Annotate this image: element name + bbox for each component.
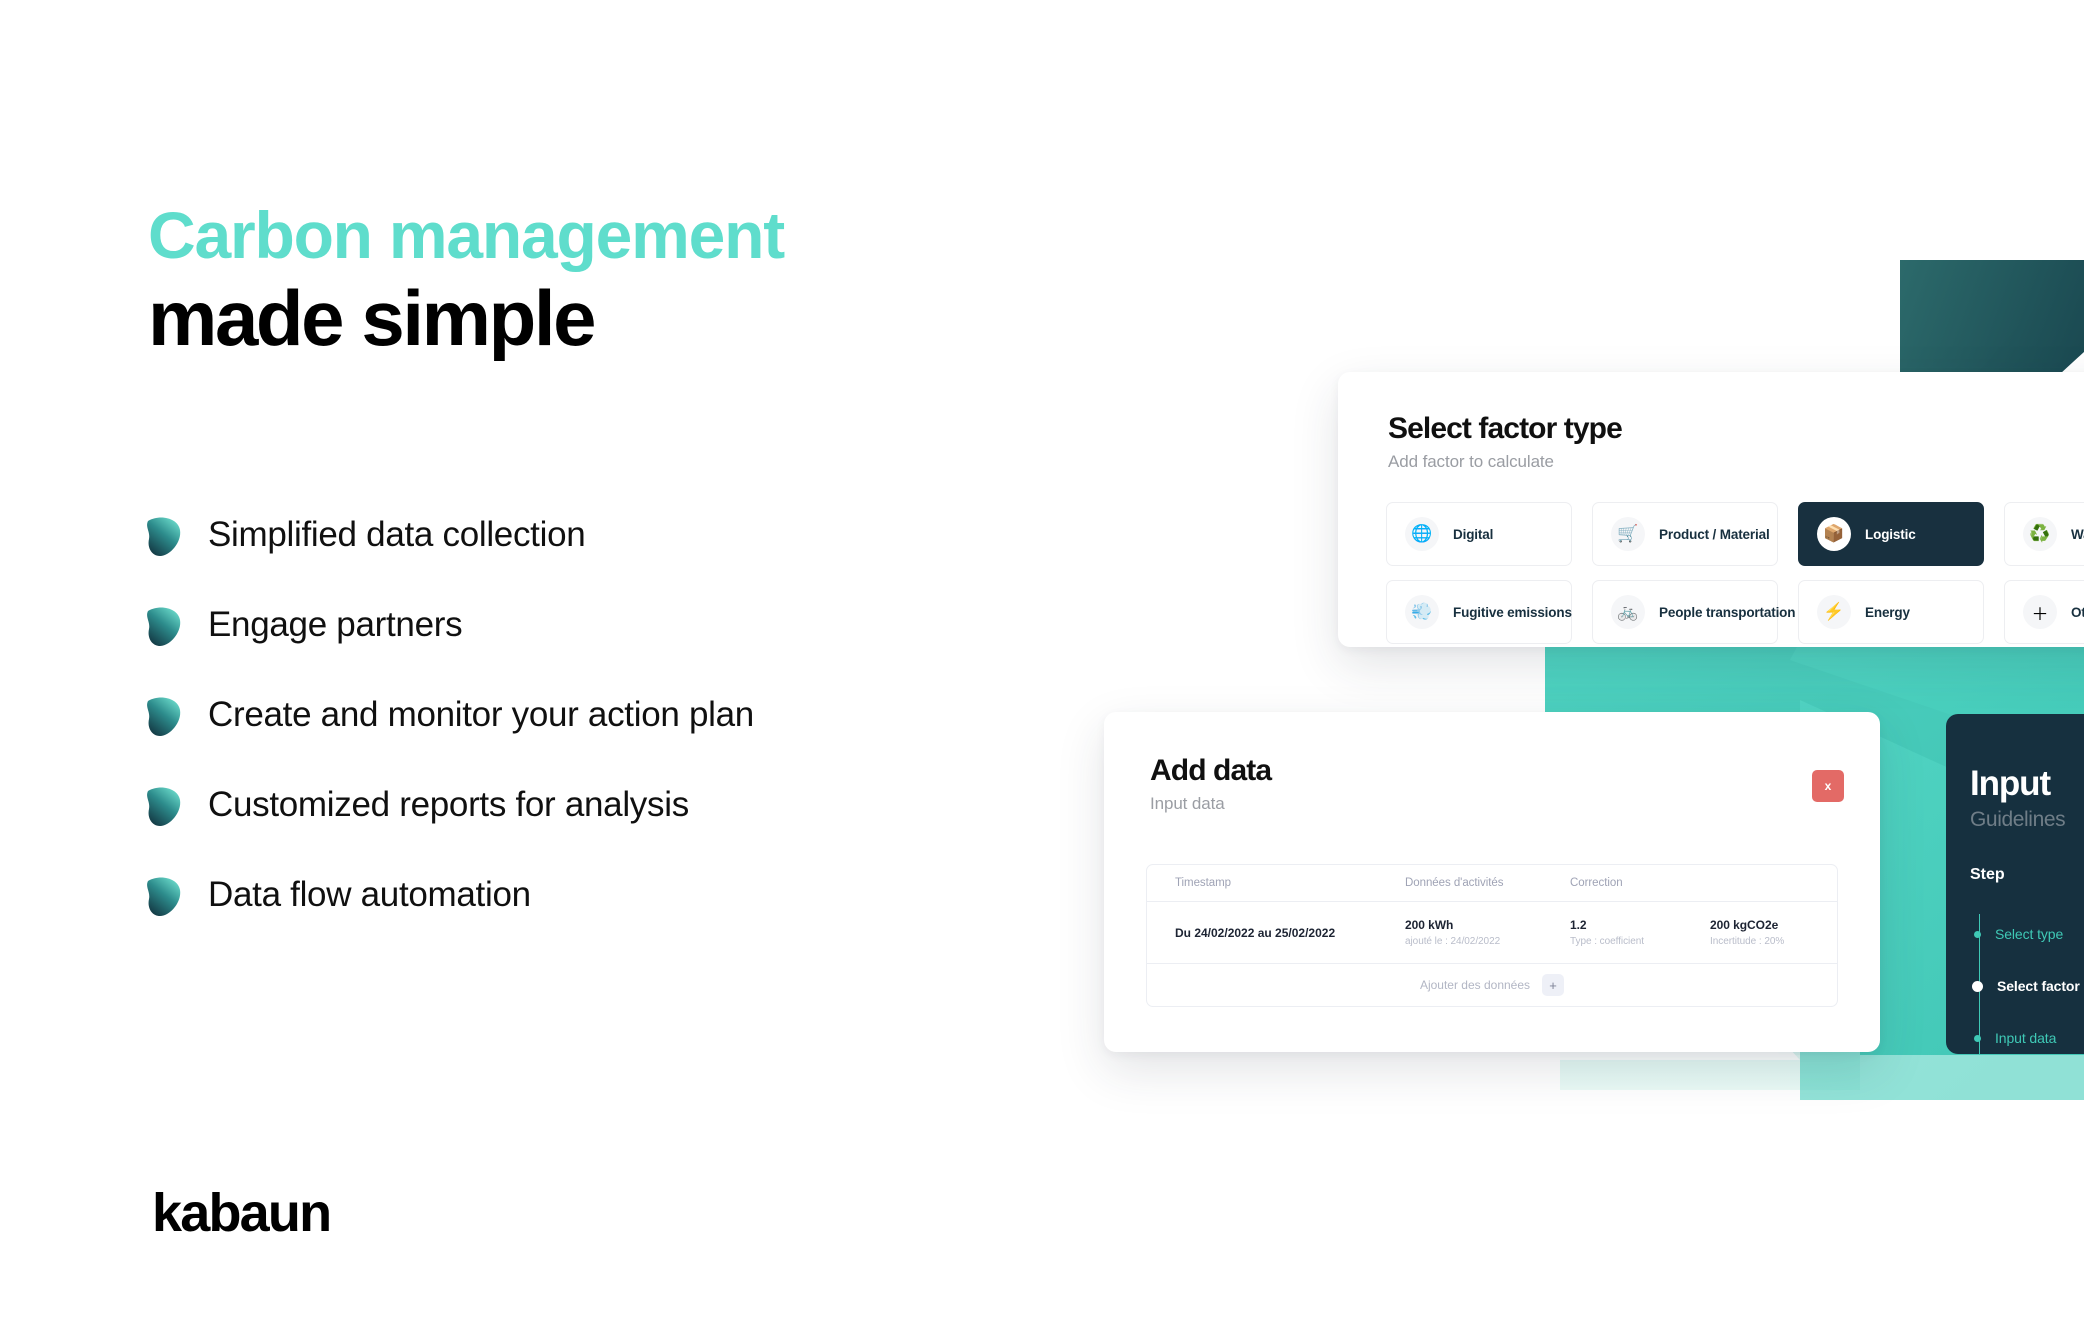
- column-header-timestamp: Timestamp: [1175, 877, 1405, 889]
- card-header: Add data Input data: [1104, 712, 1880, 814]
- feature-label: Customized reports for analysis: [208, 786, 689, 825]
- panel-subtitle: Guidelines: [1970, 808, 2065, 832]
- add-data-row[interactable]: Ajouter des données +: [1147, 964, 1837, 1006]
- kabaun-logo: kabaun: [152, 1182, 330, 1244]
- cell-correction-sub: Type : coefficient: [1570, 936, 1710, 947]
- step-dot-icon: [1972, 981, 1983, 992]
- factor-chip-waste[interactable]: ♻️ Waste: [2004, 502, 2084, 566]
- shopping-cart-icon: 🛒: [1611, 517, 1645, 551]
- factor-chip-label: Digital: [1453, 527, 1493, 542]
- factor-chip-logistic[interactable]: 📦 Logistic: [1798, 502, 1984, 566]
- step-item-select-type[interactable]: Select type: [1974, 908, 2084, 960]
- factor-chip-label: Waste: [2071, 527, 2084, 542]
- cell-activity-data: 200 kWh ajouté le : 24/02/2022: [1405, 918, 1570, 947]
- page-title: Carbon management made simple: [148, 202, 784, 360]
- card-header: Select factor type Add factor to calcula…: [1338, 372, 2084, 472]
- cell-result-value: 200 kgCO2e: [1710, 918, 1838, 932]
- factor-chip-energy[interactable]: ⚡ Energy: [1798, 580, 1984, 644]
- cell-activity-value: 200 kWh: [1405, 918, 1570, 932]
- activity-data-table: Timestamp Données d'activités Correction…: [1146, 864, 1838, 1007]
- feature-list: Simplified data collection Engage partne…: [140, 490, 1000, 940]
- feature-label: Engage partners: [208, 606, 462, 645]
- feature-label: Create and monitor your action plan: [208, 696, 754, 735]
- step-dot-icon: [1974, 931, 1981, 938]
- leaf-bullet-icon: [140, 872, 186, 918]
- step-label: Input data: [1995, 1030, 2056, 1046]
- cell-timestamp-value: Du 24/02/2022 au 25/02/2022: [1175, 926, 1405, 940]
- globe-icon: 🌐: [1405, 517, 1439, 551]
- factor-chip-other[interactable]: ＋ Other: [2004, 580, 2084, 644]
- select-factor-type-card: Select factor type Add factor to calcula…: [1338, 372, 2084, 647]
- list-item: Customized reports for analysis: [140, 760, 1000, 850]
- list-item: Simplified data collection: [140, 490, 1000, 580]
- step-heading: Step: [1970, 866, 2005, 884]
- cell-correction-value: 1.2: [1570, 918, 1710, 932]
- package-box-icon: 📦: [1817, 517, 1851, 551]
- cell-result: 200 kgCO2e Incertitude : 20%: [1710, 918, 1838, 947]
- card-subtitle: Add factor to calculate: [1388, 452, 2084, 472]
- cell-activity-sub: ajouté le : 24/02/2022: [1405, 936, 1570, 947]
- cell-timestamp: Du 24/02/2022 au 25/02/2022: [1175, 926, 1405, 940]
- table-header-row: Timestamp Données d'activités Correction: [1147, 865, 1837, 902]
- leaf-bullet-icon: [140, 512, 186, 558]
- factor-chip-label: Product / Material: [1659, 527, 1770, 542]
- input-guidelines-panel: Input Guidelines Step Select type Select…: [1946, 714, 2084, 1054]
- step-dot-icon: [1974, 1035, 1981, 1042]
- factor-type-grid: 🌐 Digital 🛒 Product / Material 📦 Logisti…: [1386, 502, 2084, 644]
- column-header-activity-data: Données d'activités: [1405, 877, 1570, 889]
- step-list: Select type Select factor Input data Pub…: [1974, 908, 2084, 1054]
- card-subtitle: Input data: [1150, 794, 1880, 814]
- recycle-icon: ♻️: [2023, 517, 2057, 551]
- headline-accent: Carbon management: [148, 202, 784, 269]
- feature-label: Data flow automation: [208, 876, 531, 915]
- factor-chip-people-transportation[interactable]: 🚲 People transportation: [1592, 580, 1778, 644]
- column-header-correction: Correction: [1570, 877, 1710, 889]
- list-item: Engage partners: [140, 580, 1000, 670]
- cell-result-sub: Incertitude : 20%: [1710, 936, 1838, 947]
- factor-chip-label: People transportation: [1659, 605, 1795, 620]
- feature-label: Simplified data collection: [208, 516, 585, 555]
- gas-cloud-icon: 💨: [1405, 595, 1439, 629]
- card-title: Add data: [1150, 754, 1880, 788]
- step-item-select-factor[interactable]: Select factor: [1974, 960, 2084, 1012]
- factor-chip-label: Energy: [1865, 605, 1910, 620]
- factor-chip-label: Logistic: [1865, 527, 1916, 542]
- plus-icon[interactable]: +: [1542, 974, 1564, 996]
- table-row[interactable]: Du 24/02/2022 au 25/02/2022 200 kWh ajou…: [1147, 902, 1837, 964]
- factor-chip-label: Fugitive emissions: [1453, 605, 1572, 620]
- bicycle-icon: 🚲: [1611, 595, 1645, 629]
- step-label: Select type: [1995, 926, 2063, 942]
- add-data-card: Add data Input data x Timestamp Données …: [1104, 712, 1880, 1052]
- factor-chip-label: Other: [2071, 605, 2084, 620]
- cell-correction: 1.2 Type : coefficient: [1570, 918, 1710, 947]
- list-item: Create and monitor your action plan: [140, 670, 1000, 760]
- step-item-input-data[interactable]: Input data: [1974, 1012, 2084, 1054]
- list-item: Data flow automation: [140, 850, 1000, 940]
- column-header-result: [1710, 877, 1838, 889]
- leaf-bullet-icon: [140, 602, 186, 648]
- card-title: Select factor type: [1388, 412, 2084, 446]
- leaf-bullet-icon: [140, 692, 186, 738]
- leaf-bullet-icon: [140, 782, 186, 828]
- lightning-bolt-icon: ⚡: [1817, 595, 1851, 629]
- add-data-label: Ajouter des données: [1420, 978, 1530, 992]
- factor-chip-digital[interactable]: 🌐 Digital: [1386, 502, 1572, 566]
- plus-icon: ＋: [2023, 595, 2057, 629]
- headline-main: made simple: [148, 277, 784, 360]
- panel-title: Input: [1970, 764, 2050, 804]
- close-icon[interactable]: x: [1812, 770, 1844, 802]
- promo-slide: Carbon management made simple Simplified…: [0, 0, 2084, 1328]
- factor-chip-product-material[interactable]: 🛒 Product / Material: [1592, 502, 1778, 566]
- factor-chip-fugitive-emissions[interactable]: 💨 Fugitive emissions: [1386, 580, 1572, 644]
- step-label: Select factor: [1997, 978, 2080, 994]
- hero-panel: Carbon management made simple Simplified…: [0, 0, 1010, 1328]
